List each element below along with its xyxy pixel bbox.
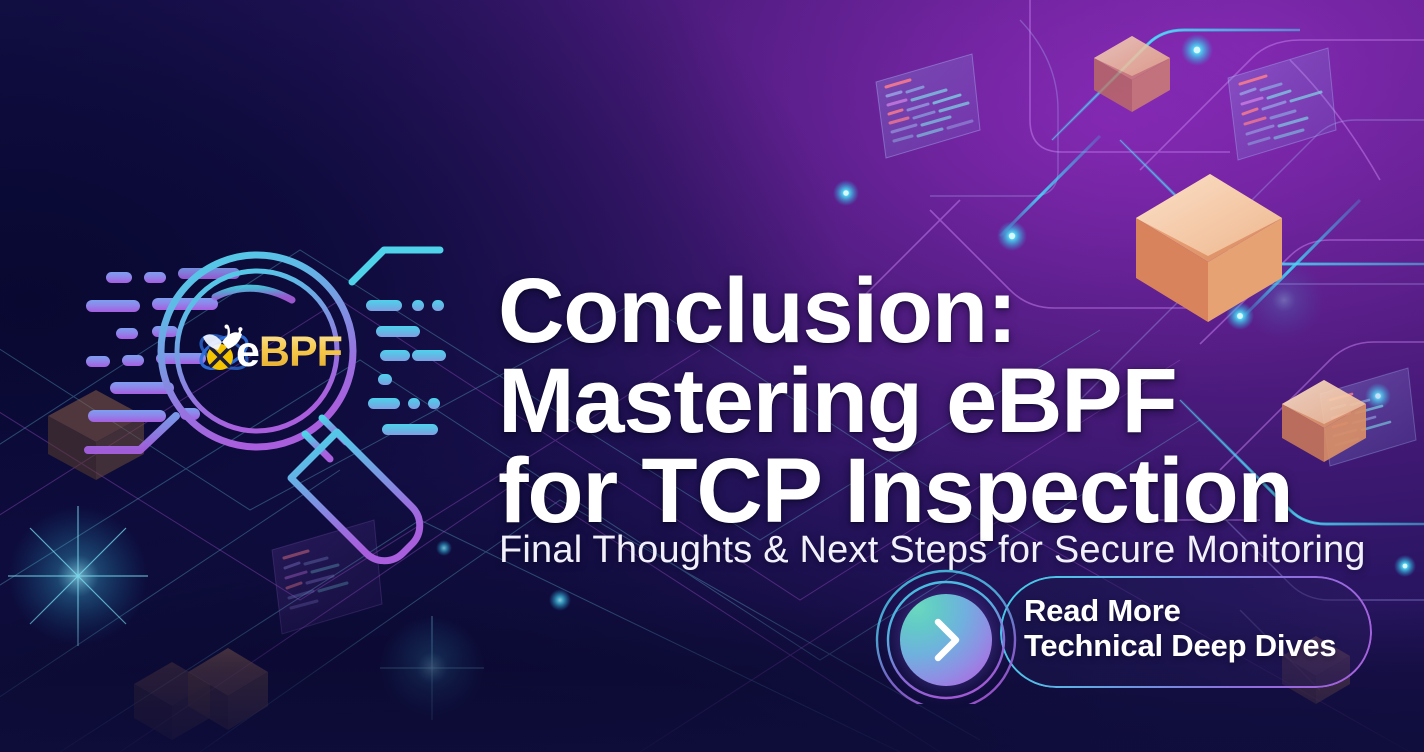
ebpf-banner: eBPF Conclusion: Mastering eBPF for TCP … (0, 0, 1424, 752)
isometric-envelope-icon (1094, 36, 1170, 112)
ebpf-wordmark-e: e (236, 328, 259, 376)
chevron-right-icon (900, 594, 992, 686)
isometric-code-card (876, 54, 980, 158)
ebpf-wordmark: eBPF (236, 331, 342, 374)
headline-line-3: for TCP Inspection (498, 446, 1298, 536)
headline-line-1: Conclusion: (498, 266, 1298, 356)
cta-line-1: Read More (1024, 593, 1354, 628)
headline-line-2: Mastering eBPF (498, 356, 1298, 446)
code-line-dashes-right (366, 300, 446, 435)
ebpf-wordmark-bpf: BPF (259, 328, 342, 376)
page-title: Conclusion: Mastering eBPF for TCP Inspe… (498, 266, 1298, 536)
read-more-cta[interactable]: Read More Technical Deep Dives (866, 560, 1374, 704)
cta-labels: Read More Technical Deep Dives (1024, 593, 1354, 663)
cta-line-2: Technical Deep Dives (1024, 628, 1354, 663)
cta-knob[interactable] (866, 560, 1036, 704)
